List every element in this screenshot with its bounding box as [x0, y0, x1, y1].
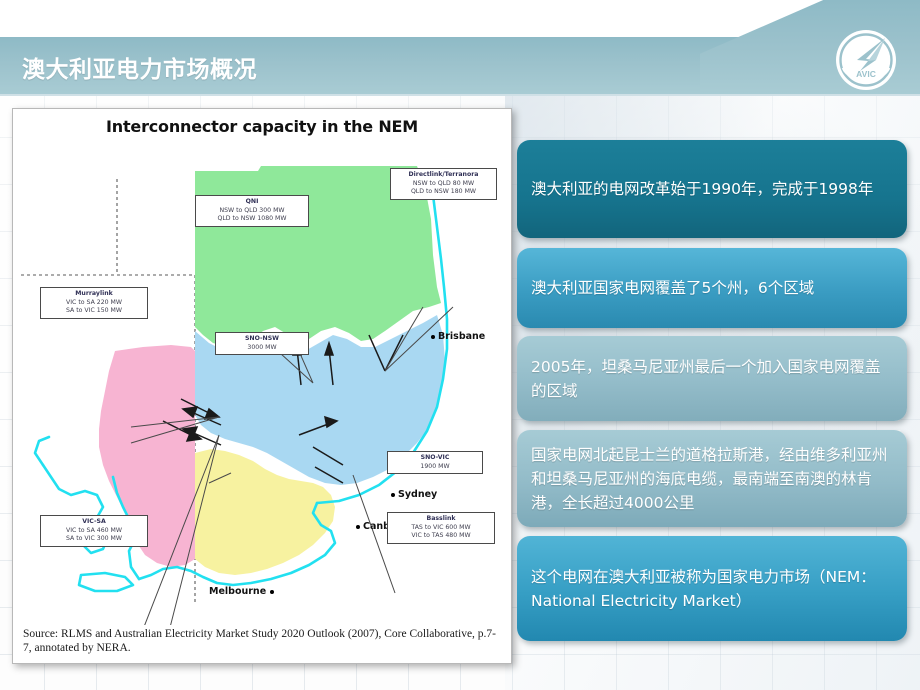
- callout-basslink-line-1: TAS to VIC 600 MW: [391, 524, 491, 533]
- callout-murraylink-line-2: SA to VIC 150 MW: [44, 307, 144, 316]
- slide: 澳大利亚电力市场概况 AVIC Interconnector capacity …: [0, 0, 920, 690]
- callout-qni: QNI NSW to QLD 300 MW QLD to NSW 1080 MW: [195, 195, 309, 227]
- callout-qni-title: QNI: [199, 198, 305, 207]
- bullet-item-3-text: 2005年，坦桑马尼亚州最后一个加入国家电网覆盖的区域: [531, 355, 893, 403]
- bullet-item-1-text: 澳大利亚的电网改革始于1990年，完成于1998年: [531, 177, 873, 201]
- map-panel: Interconnector capacity in the NEM: [12, 108, 512, 664]
- city-dot-melbourne: [270, 590, 274, 594]
- callout-sno-nsw-title: SNO-NSW: [219, 335, 305, 344]
- slide-header: 澳大利亚电力市场概况: [0, 0, 920, 96]
- city-dot-brisbane: [431, 335, 435, 339]
- bullet-item-4[interactable]: 国家电网北起昆士兰的道格拉斯港，经由维多利亚州和坦桑马尼亚州的海底电缆，最南端至…: [517, 430, 907, 527]
- callout-basslink-title: Basslink: [391, 515, 491, 524]
- callout-directlink-terranora: Directlink/Terranora NSW to QLD 80 MW QL…: [390, 168, 497, 200]
- callout-basslink: Basslink TAS to VIC 600 MW VIC to TAS 48…: [387, 512, 495, 544]
- city-label-brisbane: Brisbane: [431, 331, 485, 342]
- bullet-item-5-text: 这个电网在澳大利亚被称为国家电力市场（NEM：National Electric…: [531, 565, 893, 613]
- bullet-item-5[interactable]: 这个电网在澳大利亚被称为国家电力市场（NEM：National Electric…: [517, 536, 907, 641]
- bullet-item-3[interactable]: 2005年，坦桑马尼亚州最后一个加入国家电网覆盖的区域: [517, 336, 907, 421]
- callout-qni-line-1: NSW to QLD 300 MW: [199, 207, 305, 216]
- callout-vic-sa-title: VIC-SA: [44, 518, 144, 527]
- callout-sno-nsw-line-1: 3000 MW: [219, 344, 305, 353]
- map-source-note: Source: RLMS and Australian Electricity …: [23, 627, 503, 655]
- page-title: 澳大利亚电力市场概况: [22, 50, 257, 84]
- avic-logo-text: AVIC: [856, 69, 876, 79]
- header-divider: [0, 94, 920, 96]
- callout-vic-sa: VIC-SA VIC to SA 460 MW SA to VIC 300 MW: [40, 515, 148, 547]
- callout-vic-sa-line-2: SA to VIC 300 MW: [44, 535, 144, 544]
- callout-directlink-line-1: NSW to QLD 80 MW: [394, 180, 493, 189]
- callout-basslink-line-2: VIC to TAS 480 MW: [391, 532, 491, 541]
- callout-qni-line-2: QLD to NSW 1080 MW: [199, 215, 305, 224]
- bullet-item-4-text: 国家电网北起昆士兰的道格拉斯港，经由维多利亚州和坦桑马尼亚州的海底电缆，最南端至…: [531, 443, 893, 515]
- city-label-melbourne: Melbourne: [209, 586, 274, 597]
- city-dot-sydney: [391, 493, 395, 497]
- callout-murraylink-title: Murraylink: [44, 290, 144, 299]
- callout-sno-vic-line-1: 1900 MW: [391, 463, 479, 472]
- bullet-item-2-text: 澳大利亚国家电网覆盖了5个州，6个区域: [531, 276, 814, 300]
- callout-directlink-line-2: QLD to NSW 180 MW: [394, 188, 493, 197]
- avic-logo: AVIC: [835, 29, 897, 91]
- callout-sno-vic: SNO-VIC 1900 MW: [387, 451, 483, 474]
- callout-murraylink: Murraylink VIC to SA 220 MW SA to VIC 15…: [40, 287, 148, 319]
- city-label-sydney: Sydney: [391, 489, 437, 500]
- callout-sno-vic-title: SNO-VIC: [391, 454, 479, 463]
- callout-directlink-title: Directlink/Terranora: [394, 171, 493, 180]
- bullet-item-2[interactable]: 澳大利亚国家电网覆盖了5个州，6个区域: [517, 248, 907, 328]
- city-dot-canberra: [356, 525, 360, 529]
- callout-murraylink-line-1: VIC to SA 220 MW: [44, 299, 144, 308]
- callout-vic-sa-line-1: VIC to SA 460 MW: [44, 527, 144, 536]
- callout-sno-nsw: SNO-NSW 3000 MW: [215, 332, 309, 355]
- map-title: Interconnector capacity in the NEM: [13, 117, 511, 136]
- bullet-item-1[interactable]: 澳大利亚的电网改革始于1990年，完成于1998年: [517, 140, 907, 238]
